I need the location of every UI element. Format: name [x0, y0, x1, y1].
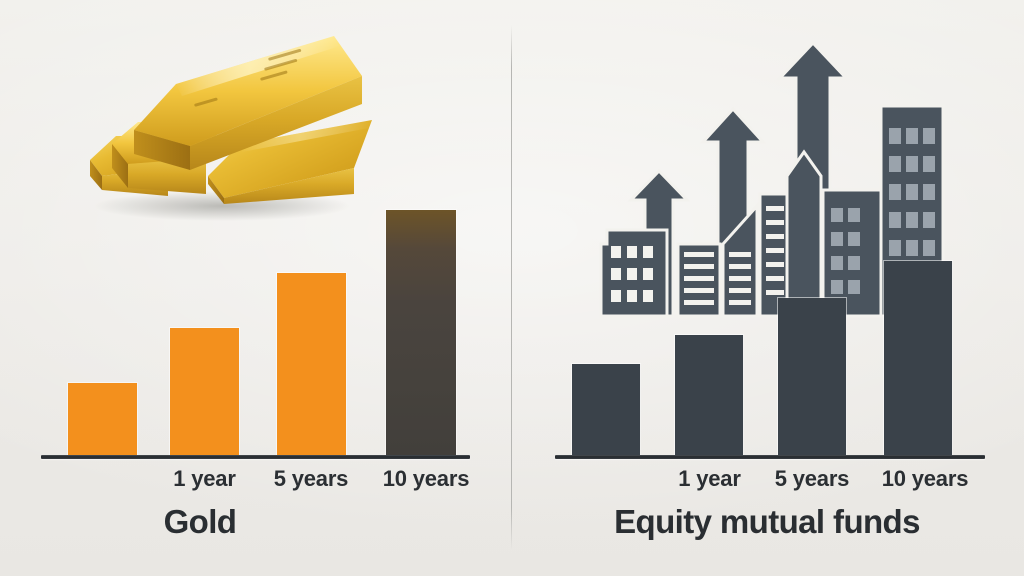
panel-title-gold: Gold — [0, 503, 400, 541]
bar-gold-10years — [386, 210, 456, 455]
axis-line-gold — [41, 455, 470, 459]
panel-equity-mutual-funds: 1 year 5 years 10 years Equity mutual fu… — [511, 0, 1024, 576]
bar-gold-1year — [170, 328, 239, 455]
bar-gold-5years — [277, 273, 346, 455]
panel-gold: 1 year 5 years 10 years Gold — [0, 0, 511, 576]
bar-gold-0 — [68, 383, 137, 455]
gold-bars-icon — [72, 18, 392, 223]
tick-label-equity-10years: 10 years — [866, 466, 984, 492]
bar-equity-1year — [675, 335, 743, 455]
bar-equity-10years — [884, 261, 952, 455]
tick-label-equity-1year: 1 year — [662, 466, 757, 492]
bar-equity-0 — [572, 364, 640, 455]
panel-title-equity: Equity mutual funds — [537, 503, 997, 541]
infographic-canvas: 1 year 5 years 10 years Gold — [0, 0, 1024, 576]
tick-label-gold-1year: 1 year — [157, 466, 252, 492]
bar-equity-5years — [778, 298, 846, 455]
tick-label-gold-10years: 10 years — [367, 466, 485, 492]
axis-line-equity — [555, 455, 985, 459]
tick-label-equity-5years: 5 years — [759, 466, 865, 492]
tick-label-gold-5years: 5 years — [258, 466, 364, 492]
